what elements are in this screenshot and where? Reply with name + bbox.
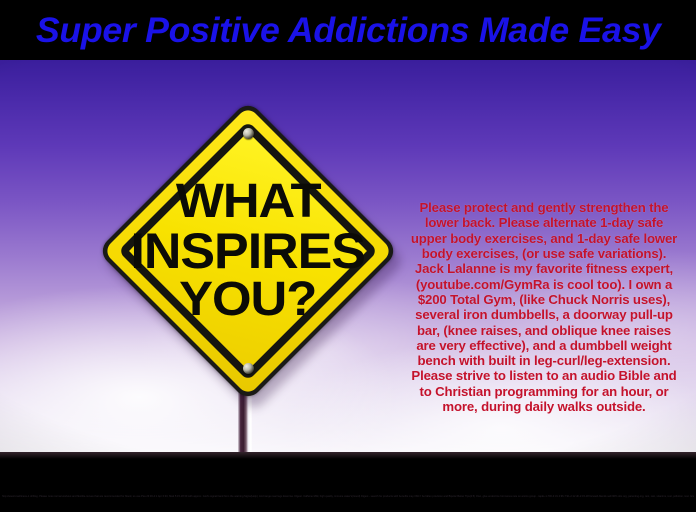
bolt-icon-bottom bbox=[243, 363, 254, 374]
sign-yellow-rim bbox=[103, 106, 393, 396]
poster-canvas: WHAT INSPIRES YOU? Please protect and ge… bbox=[0, 0, 696, 512]
body-copy-paragraph: Please protect and gently strengthen the… bbox=[406, 200, 682, 414]
page-title: Super Positive Addictions Made Easy bbox=[36, 13, 661, 48]
road-sign bbox=[97, 100, 399, 402]
footer-microtext: http://www.lovefitness-1.of/blog. Please… bbox=[2, 495, 694, 498]
sign-outer-frame bbox=[97, 100, 399, 402]
footer-sheen bbox=[0, 452, 696, 459]
footer-band: http://www.lovefitness-1.of/blog. Please… bbox=[0, 452, 696, 512]
bolt-icon-top bbox=[243, 128, 254, 139]
header-band: Super Positive Addictions Made Easy bbox=[0, 0, 696, 60]
photo-stage: WHAT INSPIRES YOU? Please protect and ge… bbox=[0, 60, 696, 452]
